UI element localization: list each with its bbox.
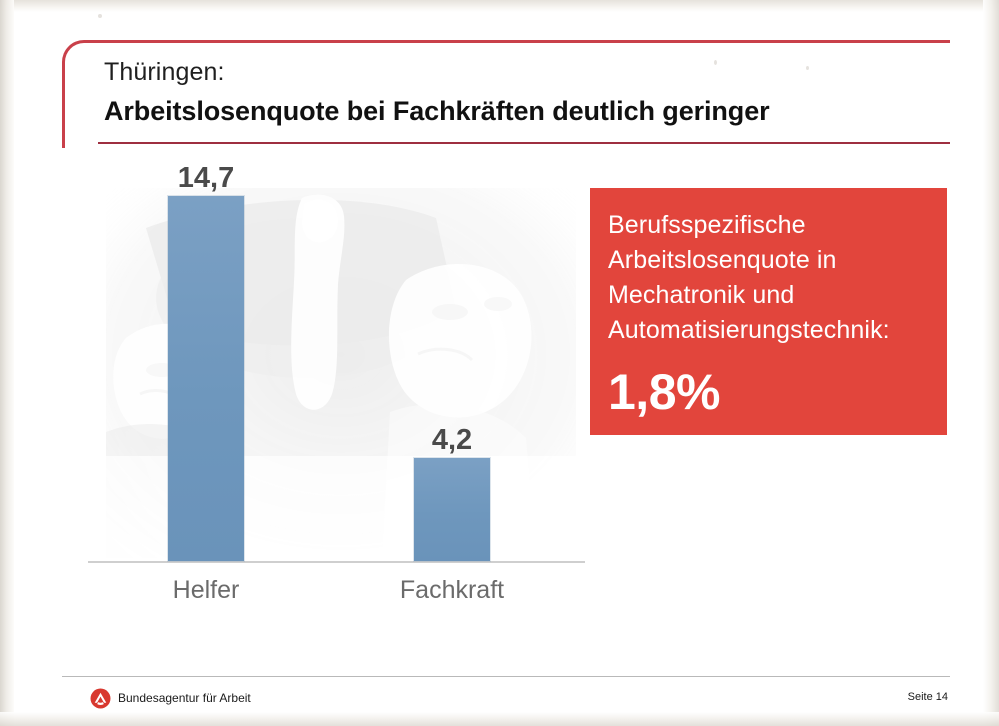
- scan-edge-left: [0, 0, 14, 726]
- slide-eyebrow: Thüringen:: [104, 58, 225, 87]
- scan-edge-top: [0, 0, 999, 12]
- footer: Bundesagentur für Arbeit Seite 14: [62, 686, 950, 712]
- slide: Thüringen: Arbeitslosenquote bei Fachkrä…: [0, 0, 999, 726]
- bar-helfer[interactable]: [168, 196, 244, 561]
- callout-figure: 1,8%: [608, 363, 720, 421]
- header-divider: [98, 142, 950, 144]
- footer-brand-label: Bundesagentur für Arbeit: [118, 691, 251, 705]
- header-frame: [62, 40, 950, 148]
- footer-page-number: Seite 14: [908, 691, 948, 703]
- bar-value-fachkraft: 4,2: [392, 424, 512, 457]
- bundesagentur-fuer-arbeit-logo-icon: [90, 688, 111, 709]
- page-title: Arbeitslosenquote bei Fachkräften deutli…: [104, 96, 770, 127]
- category-label-fachkraft: Fachkraft: [352, 576, 552, 605]
- scan-edge-bottom: [0, 712, 999, 726]
- bar-fachkraft[interactable]: [414, 458, 490, 561]
- footer-divider: [62, 676, 950, 677]
- category-label-helfer: Helfer: [106, 576, 306, 605]
- chart-baseline: [88, 561, 585, 563]
- scan-speck: [98, 14, 102, 18]
- bar-value-helfer: 14,7: [146, 162, 266, 195]
- bar-chart: 14,7 4,2 Helfer Fachkraft: [88, 168, 588, 568]
- callout-text: Berufsspezifische Arbeitslosenquote in M…: [608, 208, 929, 348]
- callout-box: Berufsspezifische Arbeitslosenquote in M…: [590, 188, 947, 435]
- scan-edge-right: [983, 0, 999, 726]
